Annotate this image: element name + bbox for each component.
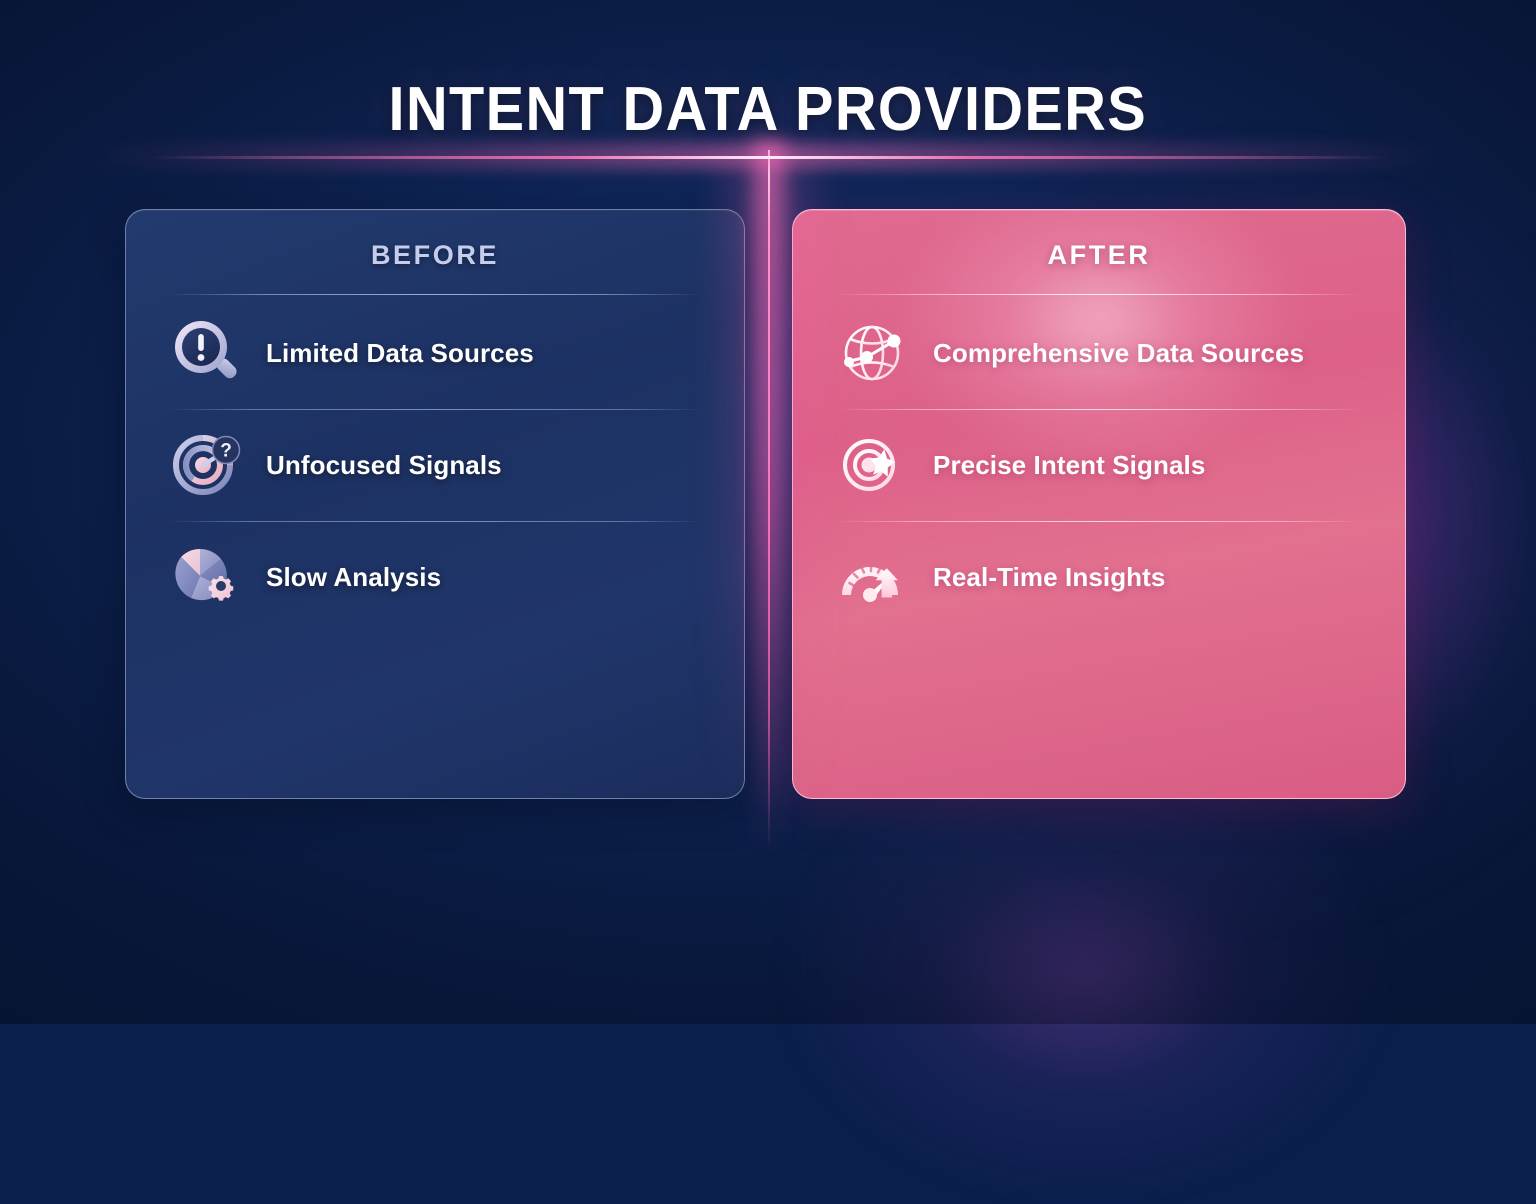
panel-before-header: BEFORE [126,210,744,271]
list-item-label: Unfocused Signals [266,450,502,481]
panel-after: AFTER [792,209,1406,799]
globe-network-icon [835,314,913,392]
panel-before-header-divider [168,294,702,295]
panel-after-header: AFTER [793,210,1405,271]
list-item-label: Limited Data Sources [266,338,534,369]
svg-text:?: ? [220,441,232,462]
list-item-label: Comprehensive Data Sources [933,338,1304,369]
title-underline-core [149,156,1387,159]
panel-before-title: BEFORE [126,240,744,271]
target-question-icon: ? [168,426,246,504]
list-item[interactable]: ? Unfocused Signals [168,409,702,521]
pie-chart-gear-icon [168,538,246,616]
magnifier-exclamation-icon [168,314,246,392]
page-title-container: INTENT DATA PROVIDERS [0,74,1536,145]
list-item[interactable]: Precise Intent Signals [835,409,1363,521]
center-divider [767,150,771,850]
list-item-label: Real-Time Insights [933,562,1166,593]
panel-after-title: AFTER [793,240,1405,271]
panel-before: BEFORE [125,209,745,799]
speedometer-arrow-icon [835,538,913,616]
list-item-label: Precise Intent Signals [933,450,1205,481]
panel-before-list: Limited Data Sources [126,297,744,633]
list-item[interactable]: Comprehensive Data Sources [835,297,1363,409]
list-item: Slow Analysis [168,521,702,633]
panel-after-list: Comprehensive Data Sources [793,297,1405,633]
center-divider-line [768,150,770,850]
title-underline-glow [80,152,1456,164]
panel-after-header-divider [835,294,1363,295]
list-item[interactable]: Real-Time Insights [835,521,1363,633]
crosshair-star-icon [835,426,913,504]
list-item[interactable]: Limited Data Sources [168,297,702,409]
list-item-label: Slow Analysis [266,562,441,593]
page-title: INTENT DATA PROVIDERS [389,74,1148,145]
